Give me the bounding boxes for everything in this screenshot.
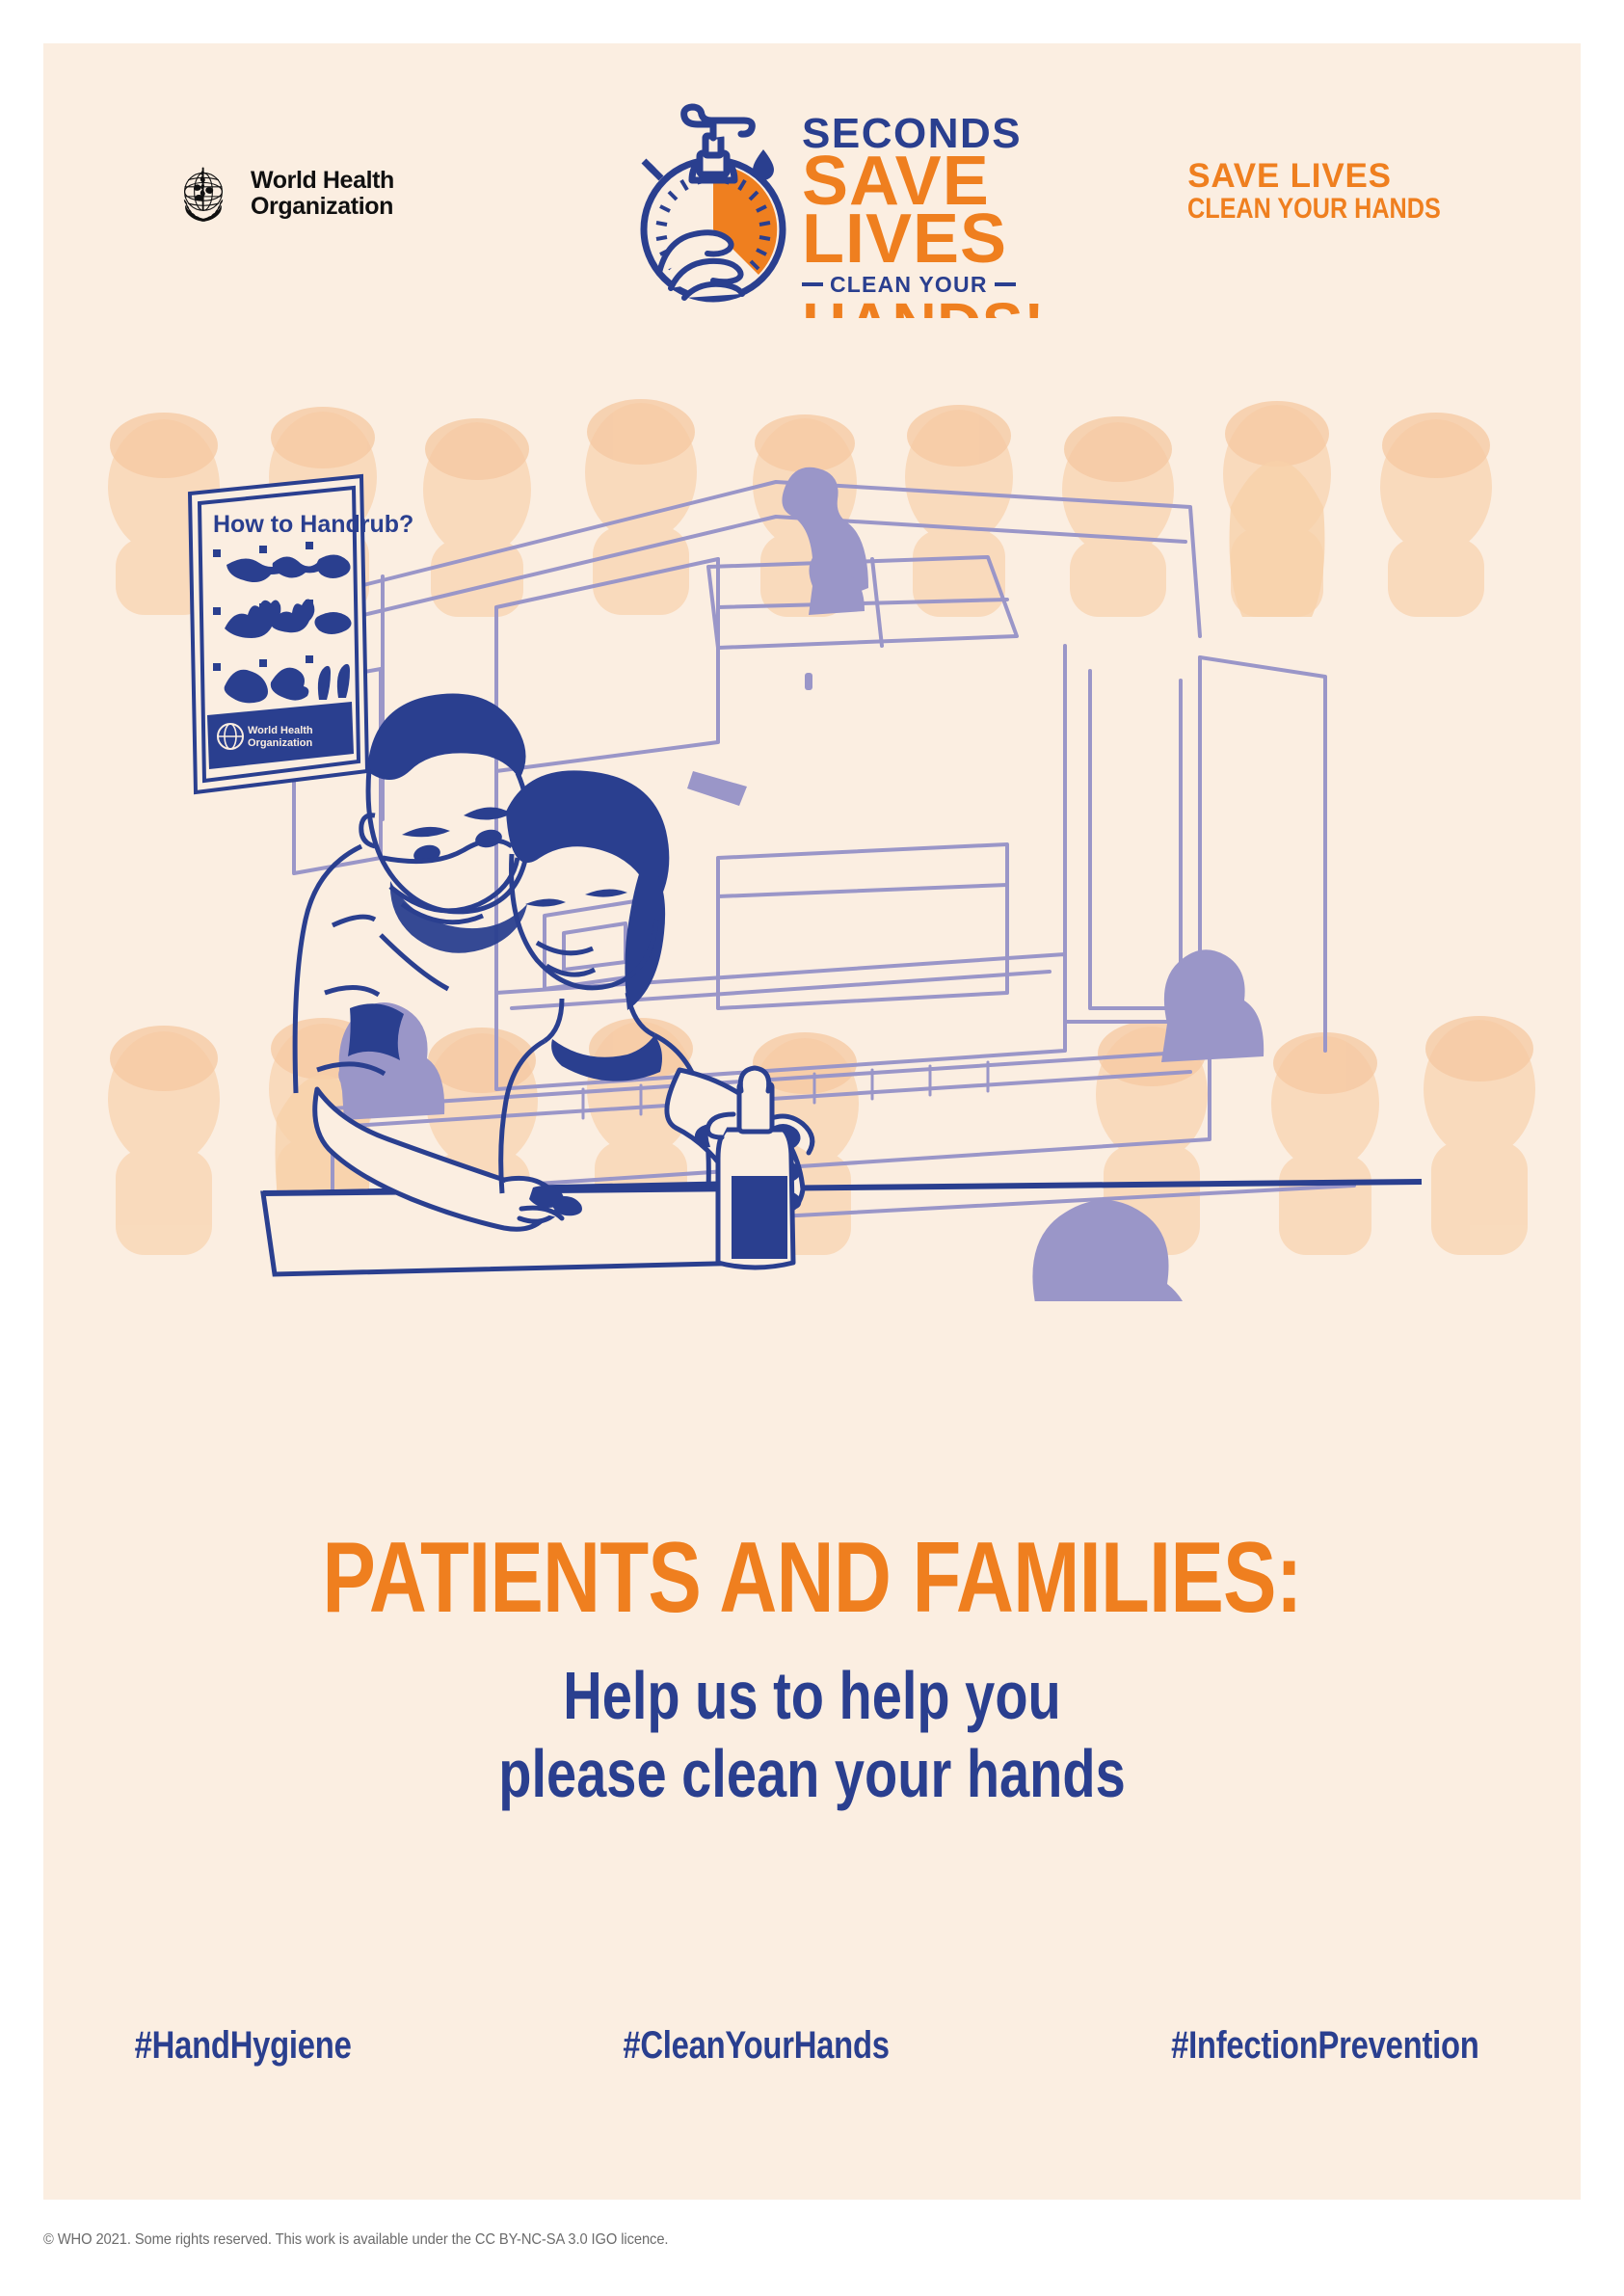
lockup-lives: LIVES [802, 211, 1024, 268]
headline-subtitle-line-1: Help us to help you [198, 1657, 1427, 1735]
rule-right [995, 282, 1016, 286]
handrub-poster-title: How to Handrub? [213, 511, 413, 538]
illustration-panel: How to Handrub? [43, 318, 1581, 1301]
campaign-lockup: SECONDS SAVE LIVES CLEAN YOUR HANDS! [617, 99, 925, 340]
soap-dispenser-stopwatch-hands-icon [617, 99, 810, 307]
hashtag-hand-hygiene[interactable]: #HandHygiene [135, 2024, 352, 2068]
page-title: PATIENTS AND FAMILIES: [198, 1528, 1427, 1628]
tagline-line-1: SAVE LIVES [1187, 159, 1489, 193]
illustration-artwork: How to Handrub? [43, 318, 1581, 1301]
campaign-lockup-type: SECONDS SAVE LIVES CLEAN YOUR HANDS! [802, 115, 1024, 351]
tagline-line-2: CLEAN YOUR HANDS [1187, 193, 1441, 225]
headline-block: PATIENTS AND FAMILIES: Help us to help y… [43, 1528, 1581, 1813]
poster-header: World Health Organization [43, 43, 1581, 361]
handrub-poster-footer-line2: Organization [248, 737, 313, 749]
who-logo-words: World Health Organization [251, 168, 394, 220]
rule-left [802, 282, 823, 286]
who-emblem-icon [169, 159, 238, 228]
hashtag-clean-your-hands[interactable]: #CleanYourHands [624, 2024, 890, 2068]
poster-canvas: World Health Organization [43, 43, 1581, 2200]
who-logo: World Health Organization [169, 159, 394, 228]
hashtag-infection-prevention[interactable]: #InfectionPrevention [1171, 2024, 1479, 2068]
headline-subtitle-line-2: please clean your hands [198, 1735, 1427, 1813]
copyright-note: © WHO 2021. Some rights reserved. This w… [43, 2231, 668, 2249]
handrub-poster-footer-line1: World Health [248, 725, 313, 736]
hashtag-row: #HandHygiene #CleanYourHands #InfectionP… [111, 2024, 1513, 2068]
campaign-tagline: SAVE LIVES CLEAN YOUR HANDS [1187, 159, 1489, 225]
